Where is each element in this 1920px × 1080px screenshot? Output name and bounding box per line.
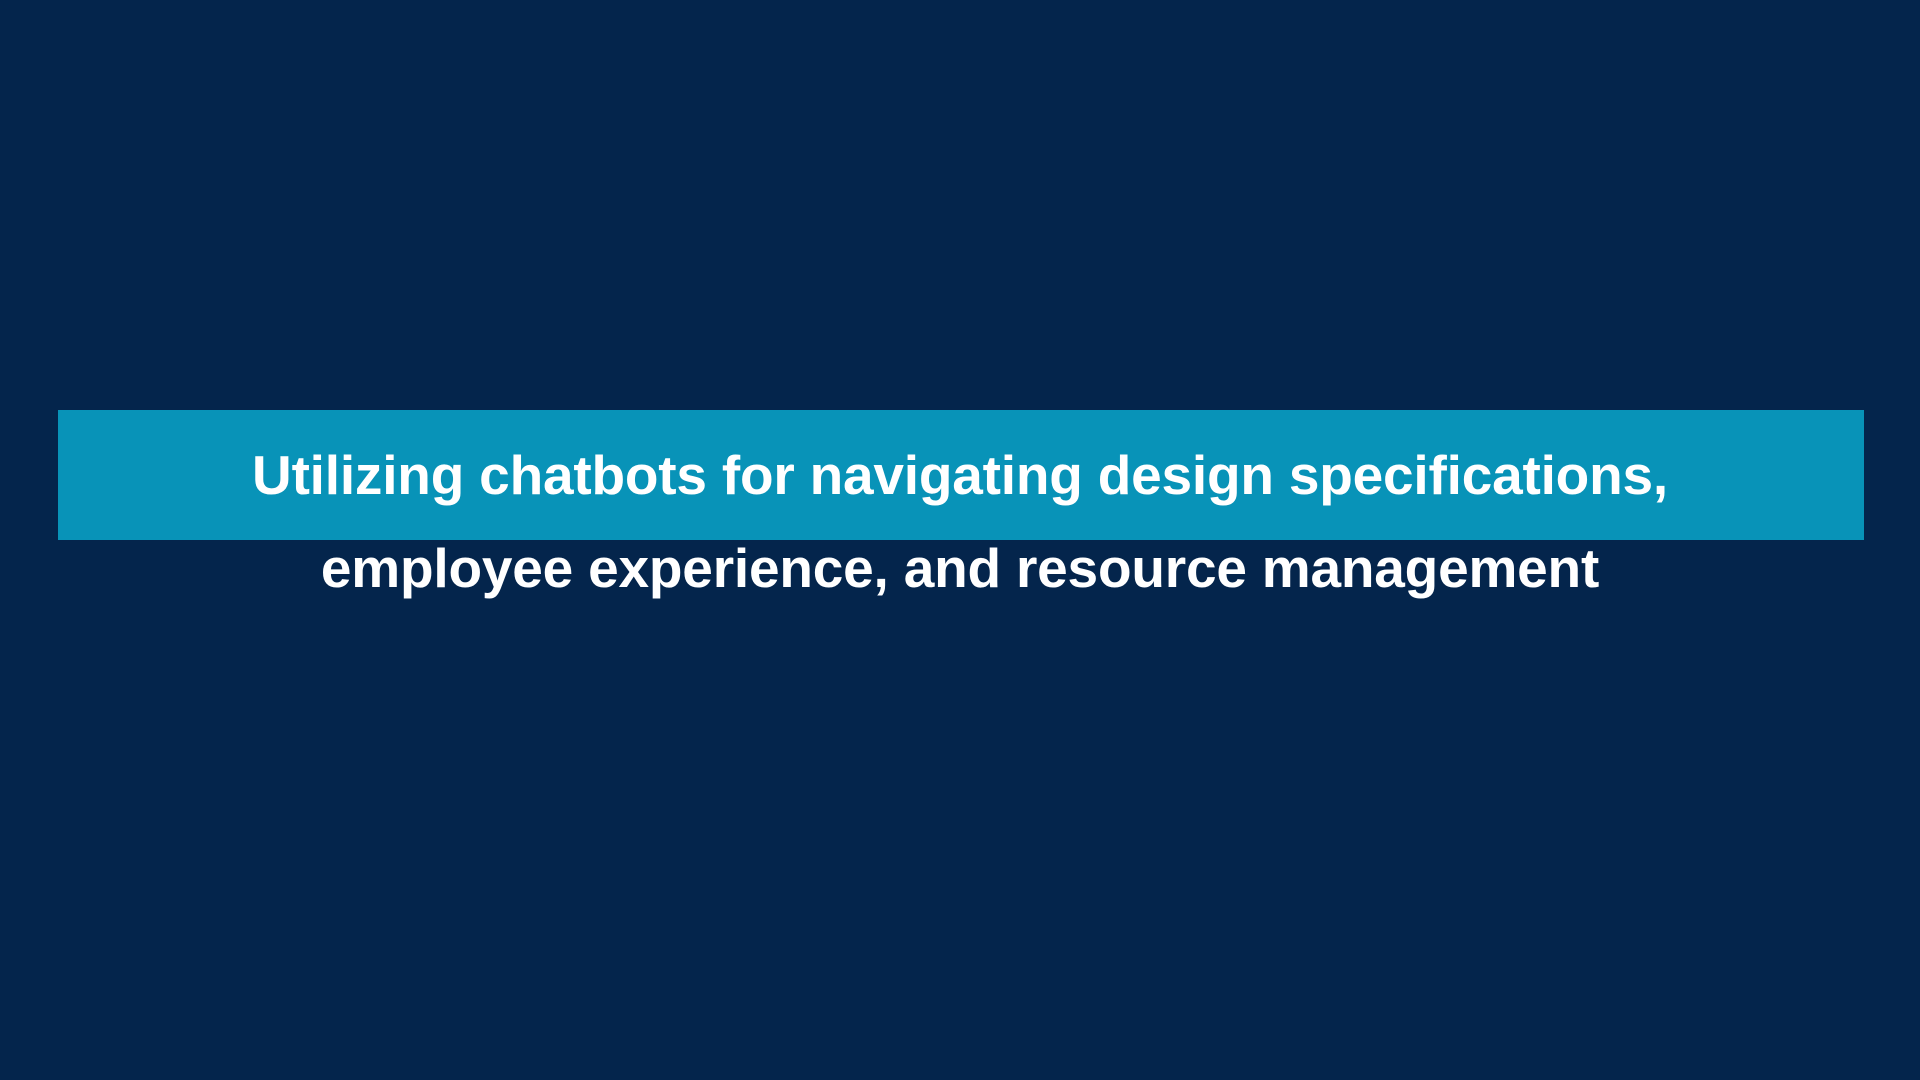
title-line-1: Utilizing chatbots for navigating design… bbox=[0, 410, 1920, 521]
slide-canvas: Utilizing chatbots for navigating design… bbox=[0, 0, 1920, 1080]
slide-title: Utilizing chatbots for navigating design… bbox=[0, 410, 1920, 614]
title-line-2: employee experience, and resource manage… bbox=[0, 521, 1920, 614]
